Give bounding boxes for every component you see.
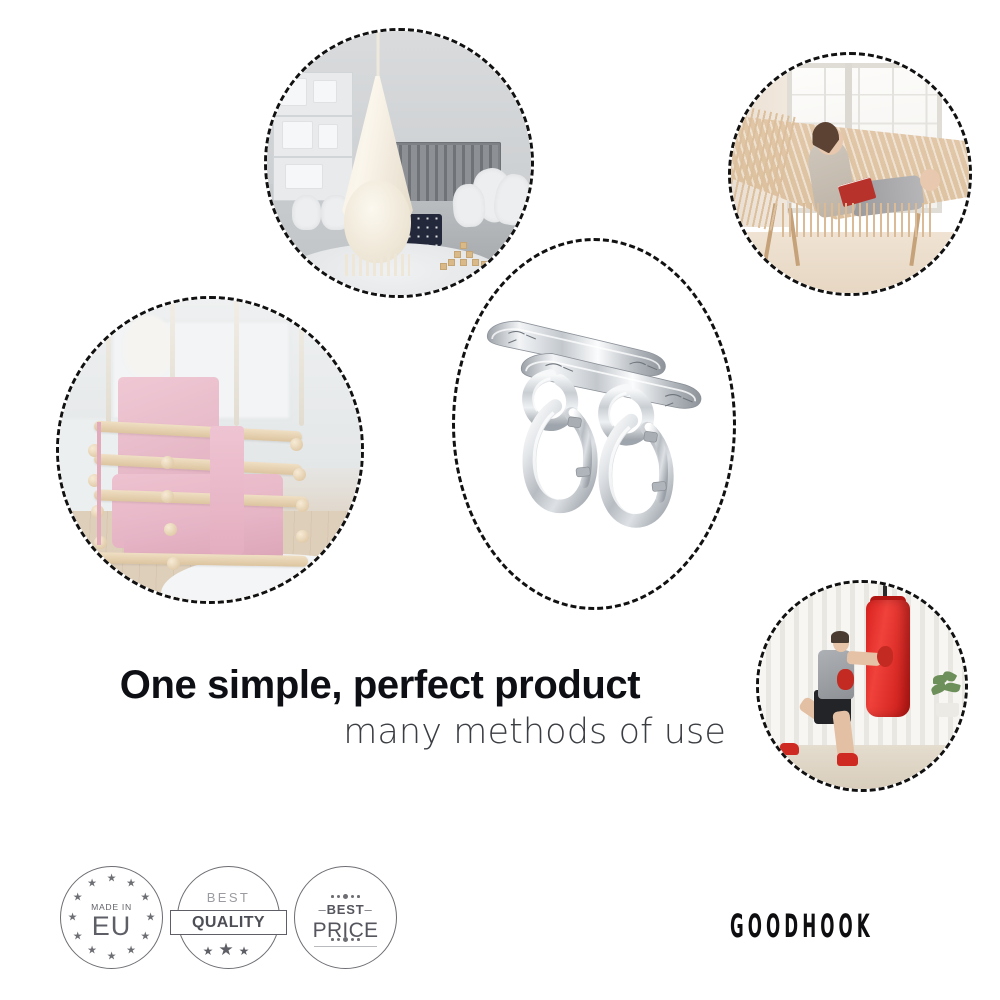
badge-best-price-top-label: –BEST– <box>294 902 397 917</box>
badge-made-in-eu[interactable]: ★★★★★★★★★★★★ MADE IN EU <box>60 866 163 969</box>
brand-logo[interactable]: GOODHOOK <box>730 907 852 945</box>
swing-hanger-hooks-illustration <box>476 291 719 565</box>
badge-best-quality-top-label: BEST <box>177 890 280 905</box>
badge-best-price[interactable]: –BEST– PRICE <box>294 866 397 969</box>
use-case-photo-hammock-reading[interactable] <box>728 52 972 296</box>
baby-swing-seat-image <box>57 297 363 603</box>
use-case-photo-boxing-bag[interactable] <box>756 580 968 792</box>
badge-best-quality-banner: QUALITY <box>170 910 287 935</box>
badge-best-price-best-text: BEST <box>327 902 365 917</box>
badge-best-quality[interactable]: BEST QUALITY ★★★ <box>177 866 280 969</box>
use-case-photo-baby-swing-seat[interactable] <box>56 296 364 604</box>
badge-dash-right: – <box>364 902 372 917</box>
headline-secondary: many methods of use <box>0 711 760 755</box>
badge-best-quality-main-label: QUALITY <box>192 914 265 932</box>
hammock-reading-image <box>729 53 971 295</box>
headline-primary: One simple, perfect product <box>0 663 760 707</box>
badge-best-price-dots-bottom-icon <box>294 932 397 948</box>
badge-ring <box>294 866 397 969</box>
badge-dash-left: – <box>319 902 327 917</box>
boxing-bag-image <box>757 581 967 791</box>
trust-badges: ★★★★★★★★★★★★ MADE IN EU BEST QUALITY ★★★… <box>60 866 397 969</box>
headline-block: One simple, perfect product many methods… <box>0 663 760 755</box>
product-hero-image <box>453 239 735 609</box>
infographic-canvas: One simple, perfect product many methods… <box>0 0 1000 1000</box>
badge-best-quality-stars-icon: ★★★ <box>177 940 280 960</box>
badge-made-in-eu-main-label: EU <box>60 912 163 942</box>
use-case-photo-product-hero[interactable] <box>452 238 736 610</box>
